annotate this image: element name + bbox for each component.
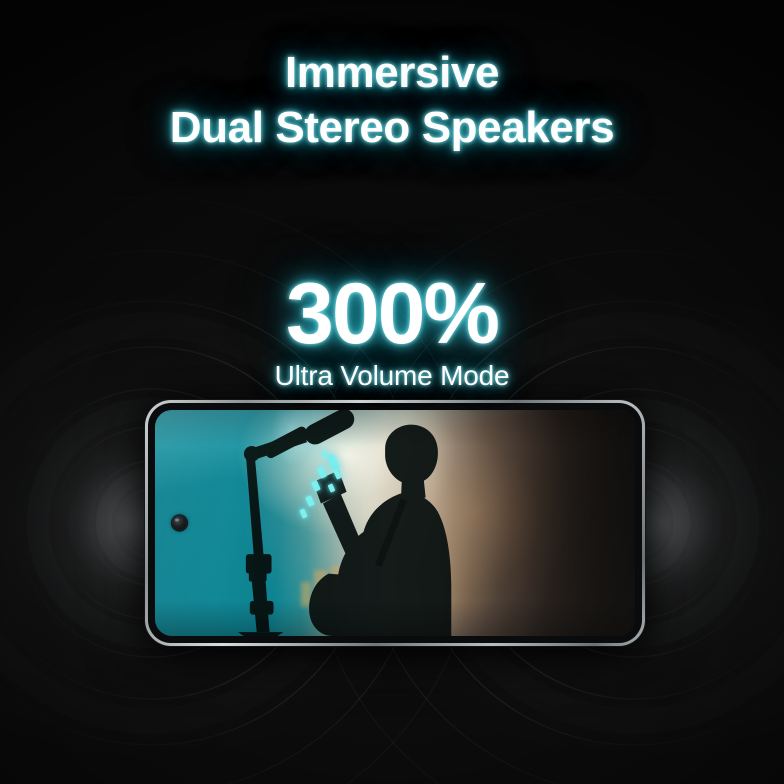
stat-caption: Ultra Volume Mode [0,360,784,392]
headline: Immersive Dual Stereo Speakers [0,46,784,155]
phone-bezel [148,403,642,643]
phone-device [145,400,645,646]
promo-banner: Immersive Dual Stereo Speakers 300% Ultr… [0,0,784,784]
headline-line-1: Immersive [0,46,784,101]
front-camera-icon [172,516,187,531]
phone-screen [155,410,635,636]
headline-line-2: Dual Stereo Speakers [0,101,784,156]
stat-block: 300% Ultra Volume Mode [0,272,784,392]
screen-edge-shading [155,410,635,636]
stat-value: 300% [0,272,784,356]
